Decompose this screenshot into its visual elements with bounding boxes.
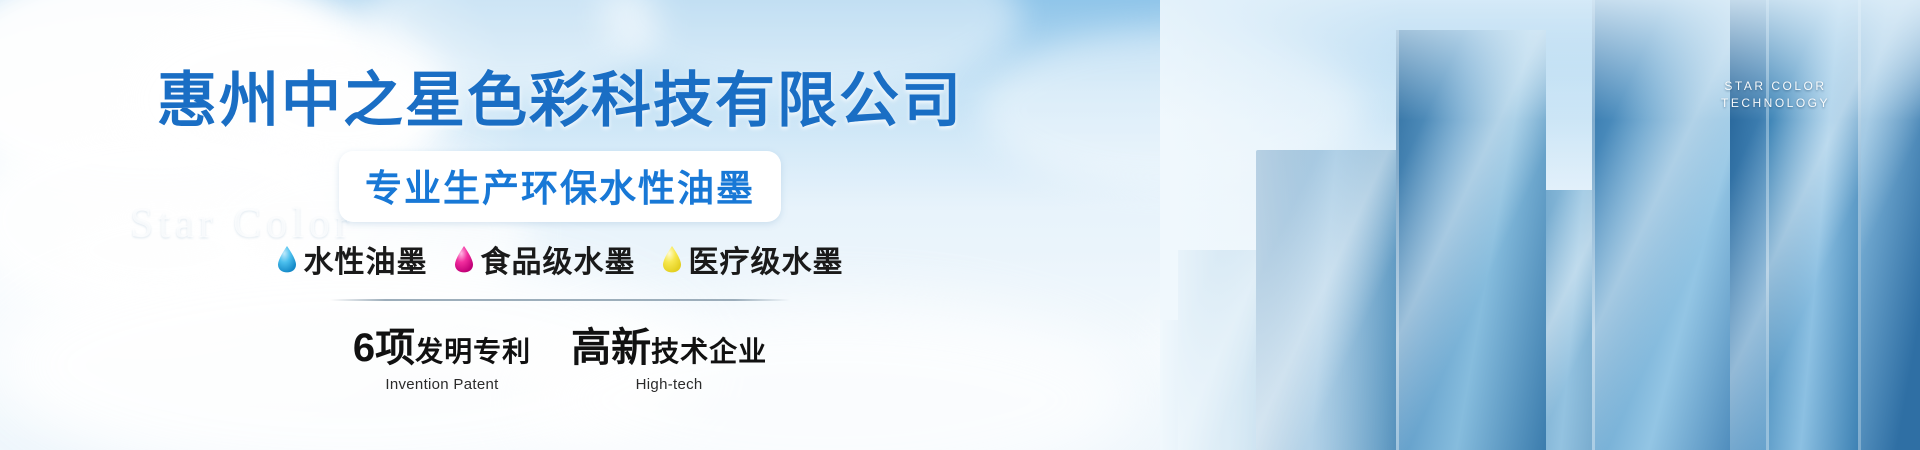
feature-label: 医疗级水墨 bbox=[689, 237, 844, 281]
credential-item: 6项 发明专利 Invention Patent bbox=[353, 315, 531, 393]
feature-label: 水性油墨 bbox=[304, 237, 428, 281]
building-brand-line1: STAR COLOR bbox=[1721, 78, 1830, 95]
feature-label: 食品级水墨 bbox=[481, 237, 636, 281]
building-brand-line2: TECHNOLOGY bbox=[1721, 95, 1830, 112]
water-drop-icon bbox=[454, 245, 474, 273]
credential-highlight: 6项 bbox=[353, 315, 415, 373]
banner-content: 惠州中之星色彩科技有限公司 专业生产环保水性油墨 水性油墨 bbox=[0, 0, 1120, 450]
city-skyline-image bbox=[1160, 0, 1920, 450]
credential-chinese: 高新 技术企业 bbox=[571, 315, 767, 373]
water-drop-icon bbox=[277, 245, 297, 273]
water-drop-icon bbox=[662, 245, 682, 273]
company-title: 惠州中之星色彩科技有限公司 bbox=[157, 52, 963, 139]
section-divider bbox=[330, 299, 790, 301]
tagline-pill: 专业生产环保水性油墨 bbox=[339, 151, 781, 222]
credential-chinese: 6项 发明专利 bbox=[353, 315, 531, 373]
feature-item: 食品级水墨 bbox=[454, 237, 636, 281]
credentials-list: 6项 发明专利 Invention Patent 高新 技术企业 High-te… bbox=[353, 315, 767, 393]
credential-english: High-tech bbox=[636, 376, 703, 393]
feature-item: 水性油墨 bbox=[277, 237, 428, 281]
credential-highlight: 高新 bbox=[571, 315, 651, 373]
credential-rest: 技术企业 bbox=[651, 330, 767, 370]
feature-list: 水性油墨 食品级水墨 医疗级水墨 bbox=[277, 237, 844, 281]
building-brand-label: STAR COLOR TECHNOLOGY bbox=[1721, 78, 1830, 113]
tagline-text: 专业生产环保水性油墨 bbox=[365, 158, 755, 212]
credential-english: Invention Patent bbox=[385, 376, 498, 393]
credential-rest: 发明专利 bbox=[415, 330, 531, 370]
credential-item: 高新 技术企业 High-tech bbox=[571, 315, 767, 393]
promotional-banner: Star Color STAR COLOR TECHNOLOGY 惠州中之星色彩… bbox=[0, 0, 1920, 450]
feature-item: 医疗级水墨 bbox=[662, 237, 844, 281]
